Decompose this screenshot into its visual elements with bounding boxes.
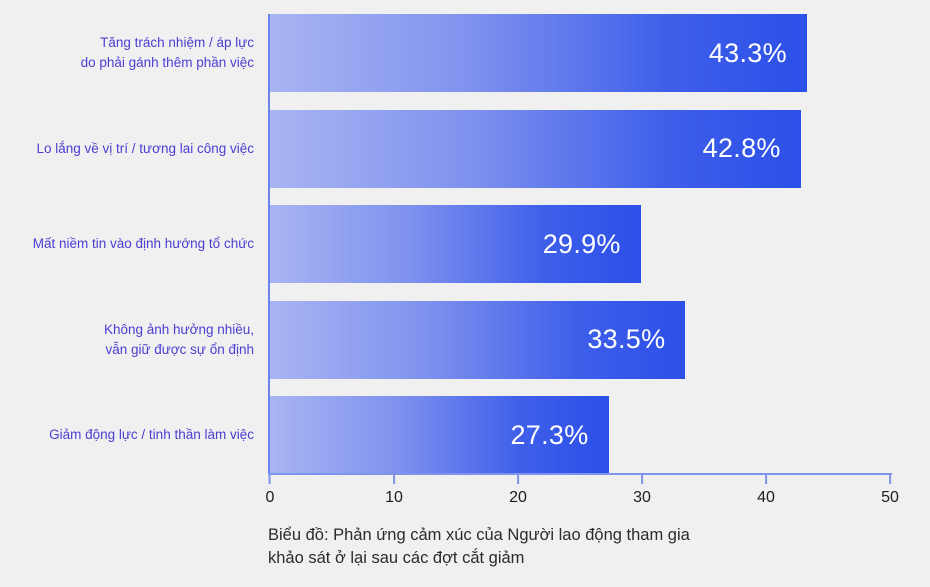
tick-mark <box>641 475 643 484</box>
x-axis-tick: 30 <box>633 475 651 507</box>
tick-mark <box>517 475 519 484</box>
bar-value-label: 43.3% <box>709 38 807 69</box>
tick-label: 30 <box>633 489 651 507</box>
bar-value-label: 33.5% <box>587 324 685 355</box>
category-label: Không ảnh hưởng nhiều, vẫn giữ được sự ổ… <box>0 301 258 379</box>
x-axis-tick: 10 <box>385 475 403 507</box>
bar-row: 43.3% <box>270 14 890 92</box>
category-label: Giảm động lực / tinh thần làm việc <box>0 396 258 474</box>
x-axis-tick: 20 <box>509 475 527 507</box>
x-axis-tick: 40 <box>757 475 775 507</box>
tick-label: 0 <box>266 489 275 507</box>
x-axis-tick: 0 <box>266 475 275 507</box>
bar[interactable]: 29.9% <box>270 205 641 283</box>
chart-caption: Biểu đồ: Phản ứng cảm xúc của Người lao … <box>268 524 868 571</box>
tick-mark <box>889 475 891 484</box>
bar-row: 33.5% <box>270 301 890 379</box>
tick-mark <box>393 475 395 484</box>
bar-rows: 43.3% 42.8% 29.9% 33.5% 27.3% <box>270 14 890 474</box>
category-label: Lo lắng về vị trí / tương lai công việc <box>0 110 258 188</box>
bar[interactable]: 43.3% <box>270 14 807 92</box>
bar[interactable]: 27.3% <box>270 396 609 474</box>
x-axis-tick: 50 <box>881 475 899 507</box>
category-label: Tăng trách nhiệm / áp lực do phải gánh t… <box>0 14 258 92</box>
tick-mark <box>765 475 767 484</box>
tick-mark <box>269 475 271 484</box>
bar-value-label: 27.3% <box>510 420 608 451</box>
tick-label: 10 <box>385 489 403 507</box>
bar-row: 42.8% <box>270 110 890 188</box>
bar-value-label: 29.9% <box>543 229 641 260</box>
bar[interactable]: 42.8% <box>270 110 801 188</box>
x-axis-ticks: 01020304050 <box>270 475 890 515</box>
tick-label: 20 <box>509 489 527 507</box>
category-axis-labels: Tăng trách nhiệm / áp lực do phải gánh t… <box>0 14 258 474</box>
bar-row: 27.3% <box>270 396 890 474</box>
tick-label: 50 <box>881 489 899 507</box>
plot-area: 43.3% 42.8% 29.9% 33.5% 27.3% <box>270 14 890 474</box>
bar-chart: Tăng trách nhiệm / áp lực do phải gánh t… <box>0 0 930 587</box>
bar-row: 29.9% <box>270 205 890 283</box>
category-label: Mất niềm tin vào định hướng tổ chức <box>0 205 258 283</box>
bar[interactable]: 33.5% <box>270 301 685 379</box>
tick-label: 40 <box>757 489 775 507</box>
bar-value-label: 42.8% <box>703 133 801 164</box>
